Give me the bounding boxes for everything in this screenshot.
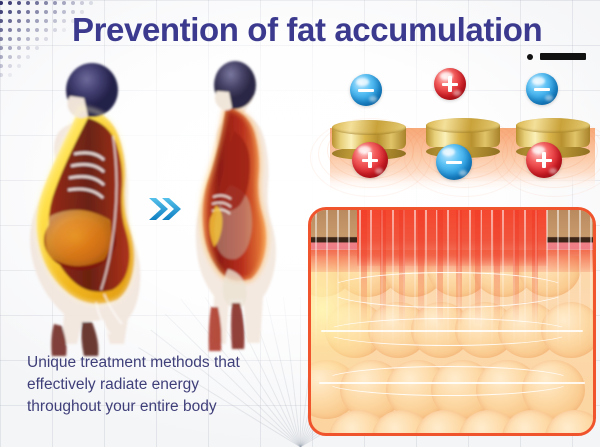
ion-highlight <box>356 78 369 86</box>
fat-cell-panel <box>308 207 596 436</box>
electrode-top <box>332 120 406 135</box>
energy-ring-5 <box>323 366 573 396</box>
electrode-top <box>516 118 590 133</box>
ion-highlight-2 <box>545 95 553 101</box>
caption-line-1: Unique treatment methods that <box>27 352 307 374</box>
ion-highlight <box>532 77 545 85</box>
energy-ring-3 <box>325 318 571 346</box>
ion-above-1-negative <box>350 74 382 106</box>
ion-below-3-positive <box>526 142 562 178</box>
energy-ring-1 <box>327 272 569 308</box>
ion-highlight-2 <box>375 168 383 174</box>
ion-electrode-diagram <box>330 62 595 190</box>
dot-dash-marker-icon <box>527 53 586 60</box>
ion-below-2-negative <box>436 144 472 180</box>
page-title: Prevention of fat accumulation <box>72 8 596 52</box>
ion-above-2-positive <box>434 68 466 100</box>
ion-highlight-2 <box>459 170 467 176</box>
ion-highlight-2 <box>549 168 557 174</box>
electrode-top <box>426 118 500 133</box>
caption-line-3: throughout your entire body <box>27 396 307 418</box>
marker-bar-icon <box>540 53 586 60</box>
ion-highlight-2 <box>369 96 377 102</box>
after-body-figure <box>182 55 302 355</box>
ion-above-3-negative <box>526 73 558 105</box>
caption-line-2: effectively radiate energy <box>27 374 307 396</box>
ion-highlight-2 <box>453 90 461 96</box>
double-chevron-right-icon <box>148 196 182 222</box>
ion-highlight <box>442 148 455 156</box>
ion-below-1-positive <box>352 142 388 178</box>
marker-dot-icon <box>527 54 533 60</box>
before-body-figure <box>18 58 168 358</box>
poster-canvas: Prevention of fat accumulation <box>0 0 600 447</box>
caption-text: Unique treatment methods that effectivel… <box>27 352 307 418</box>
